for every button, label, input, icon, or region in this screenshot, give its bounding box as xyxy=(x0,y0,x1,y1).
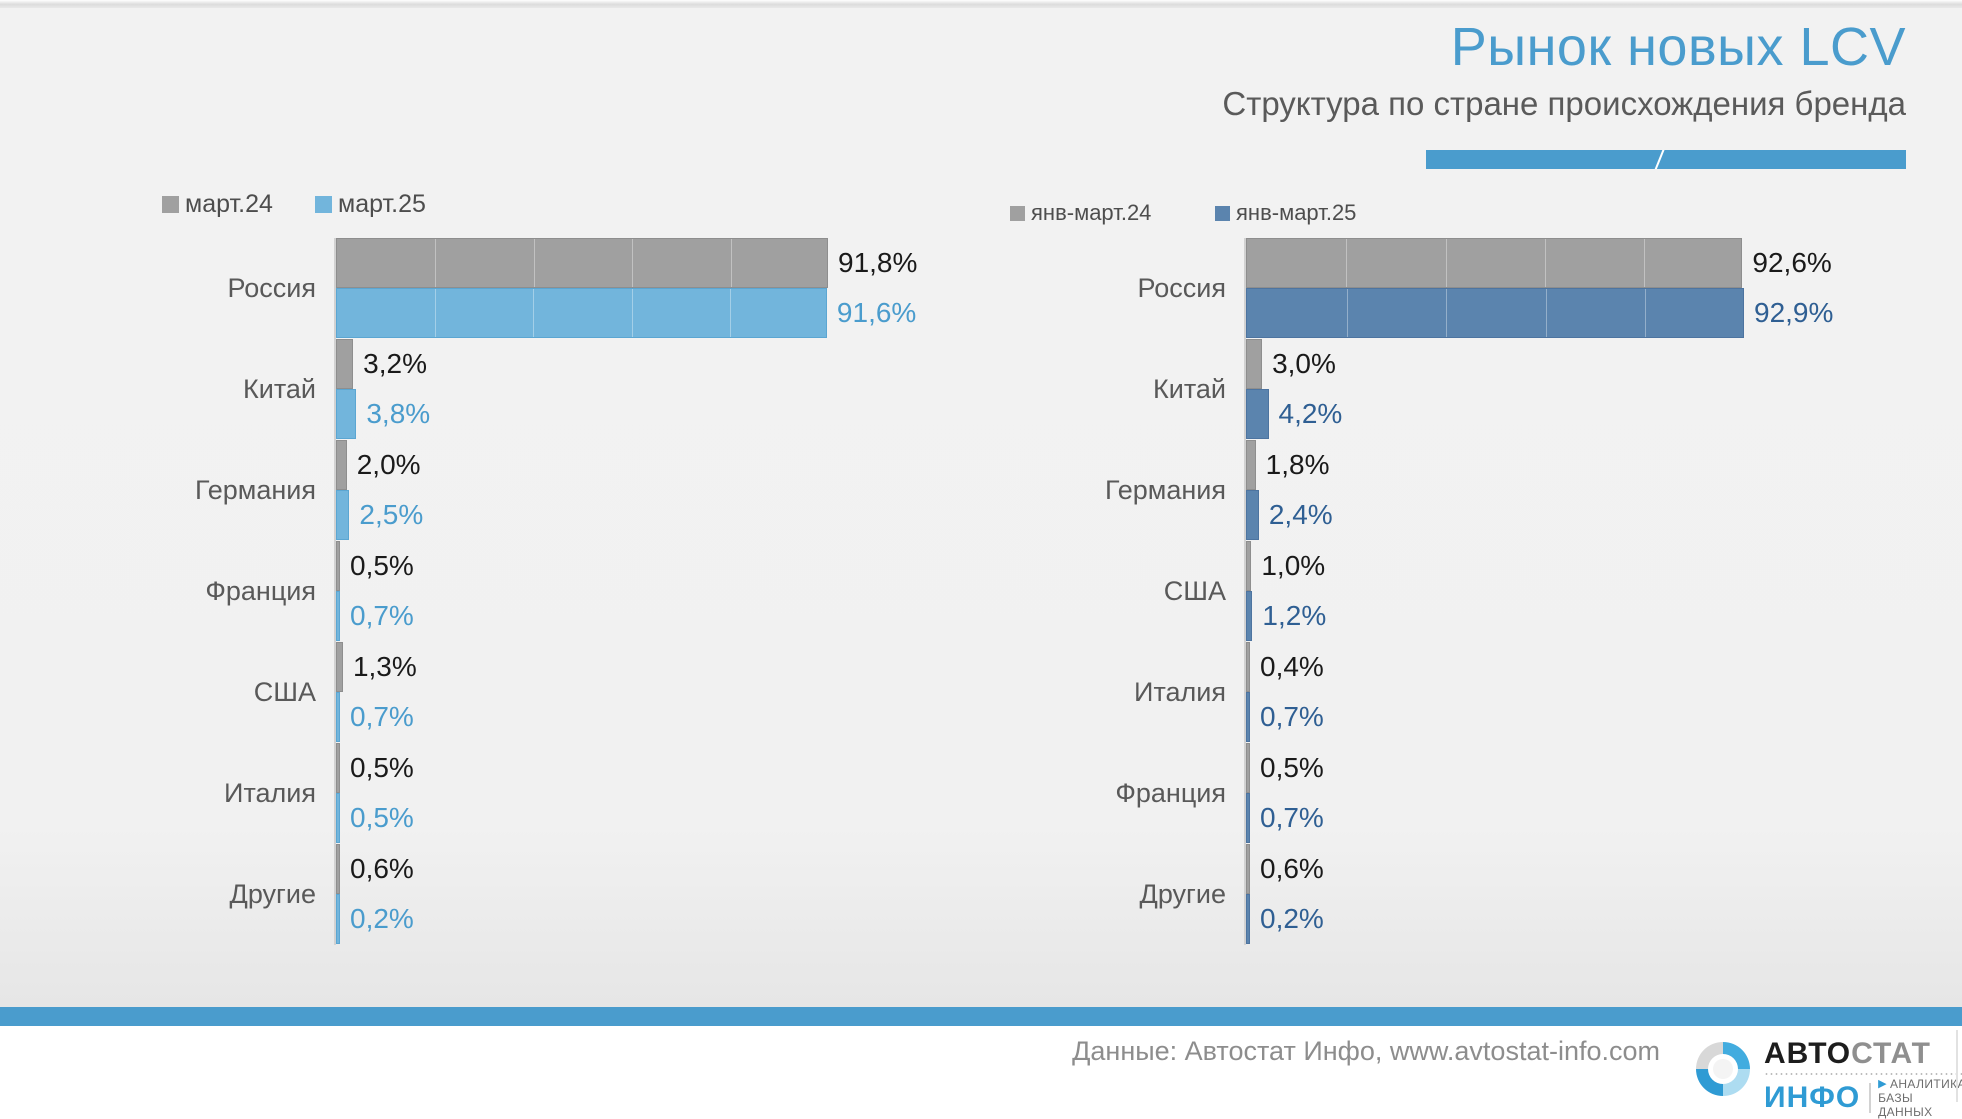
bar-value-label: 92,9% xyxy=(1754,299,1833,327)
logo-tagline-2: БАЗЫ ДАННЫХ xyxy=(1878,1091,1962,1119)
bar-series-2[interactable] xyxy=(1246,490,1259,540)
bar-with-label: 0,6% xyxy=(1246,844,1324,894)
header: Рынок новых LCV Структура по стране прои… xyxy=(806,8,1906,124)
bar-group: 0,6%0,2% xyxy=(1246,844,1840,945)
bar-with-label: 1,0% xyxy=(1246,541,1325,591)
bar-value-label: 2,0% xyxy=(357,451,421,479)
bar-group: 0,5%0,7% xyxy=(336,541,980,642)
bar-value-label: 2,5% xyxy=(359,501,423,529)
bar-with-label: 0,5% xyxy=(1246,743,1324,793)
bar-series-1[interactable] xyxy=(1246,238,1742,288)
bar-series-2[interactable] xyxy=(1246,591,1252,641)
legend-item-jan-march-25[interactable]: янв-март.25 xyxy=(1215,200,1356,226)
chart-row: Другие0,6%0,2% xyxy=(1010,844,1840,945)
legend-label: март.25 xyxy=(338,190,426,219)
bar-series-2[interactable] xyxy=(1246,288,1744,338)
bar-with-label: 1,2% xyxy=(1246,591,1326,641)
category-label: Другие xyxy=(1010,879,1226,910)
bar-value-label: 3,8% xyxy=(366,400,430,428)
bar-series-1[interactable] xyxy=(336,541,340,591)
bar-value-label: 1,2% xyxy=(1262,602,1326,630)
bar-with-label: 0,5% xyxy=(336,793,414,843)
bar-value-label: 0,7% xyxy=(350,602,414,630)
bar-value-label: 0,7% xyxy=(1260,703,1324,731)
bar-value-label: 91,8% xyxy=(838,249,917,277)
avtostat-info-logo[interactable]: АВТОСТАТ ИНФО ▶ АНАЛИТИКА БАЗЫ ДАННЫХ xyxy=(1690,1026,1946,1106)
bar-series-2[interactable] xyxy=(336,389,356,439)
category-label: Россия xyxy=(150,273,316,304)
bar-with-label: 2,4% xyxy=(1246,490,1333,540)
bar-value-label: 0,6% xyxy=(350,855,414,883)
bar-value-label: 0,5% xyxy=(350,552,414,580)
logo-word-info: ИНФО xyxy=(1764,1082,1860,1114)
category-label: Италия xyxy=(1010,677,1226,708)
chart-row: Италия0,5%0,5% xyxy=(150,743,980,844)
logo-tagline-1: АНАЛИТИКА xyxy=(1890,1077,1962,1091)
bar-series-2[interactable] xyxy=(1246,692,1250,742)
category-label: Китай xyxy=(1010,374,1226,405)
logo-divider xyxy=(1869,1083,1871,1113)
bar-with-label: 0,4% xyxy=(1246,642,1324,692)
category-label: Германия xyxy=(1010,475,1226,506)
chart-ytd: янв-март.24 янв-март.25 Россия92,6%92,9%… xyxy=(1010,190,1840,945)
bar-series-1[interactable] xyxy=(1246,844,1250,894)
chart-row: Франция0,5%0,7% xyxy=(150,541,980,642)
bar-value-label: 0,7% xyxy=(350,703,414,731)
chart-row: Другие0,6%0,2% xyxy=(150,844,980,945)
bar-series-2[interactable] xyxy=(1246,389,1269,439)
chart-row: Франция0,5%0,7% xyxy=(1010,743,1840,844)
chart-row: США1,0%1,2% xyxy=(1010,541,1840,642)
logo-dot-rule xyxy=(1764,1072,1962,1076)
accent-bar xyxy=(1426,150,1906,169)
logo-wordmark: АВТОСТАТ ИНФО ▶ АНАЛИТИКА БАЗЫ ДАННЫХ xyxy=(1764,1038,1962,1119)
bar-group: 91,8%91,6% xyxy=(336,238,980,339)
bar-value-label: 3,2% xyxy=(363,350,427,378)
bar-group: 0,5%0,5% xyxy=(336,743,980,844)
page-title: Рынок новых LCV xyxy=(806,16,1906,78)
bar-with-label: 0,5% xyxy=(336,743,414,793)
chart-ytd-legend: янв-март.24 янв-март.25 xyxy=(1010,190,1840,230)
legend-label: март.24 xyxy=(185,190,273,219)
bar-with-label: 1,3% xyxy=(336,642,417,692)
bar-value-label: 1,0% xyxy=(1261,552,1325,580)
bar-series-2[interactable] xyxy=(336,793,340,843)
bar-series-1[interactable] xyxy=(1246,541,1251,591)
top-strip xyxy=(0,0,1962,8)
chart-row: Китай3,2%3,8% xyxy=(150,339,980,440)
chart-row: Германия1,8%2,4% xyxy=(1010,440,1840,541)
bar-group: 0,5%0,7% xyxy=(1246,743,1840,844)
bar-with-label: 92,9% xyxy=(1246,288,1833,338)
bar-value-label: 0,6% xyxy=(1260,855,1324,883)
logo-swirl-icon xyxy=(1690,1036,1756,1102)
legend-item-march-24[interactable]: март.24 xyxy=(162,190,273,219)
category-label: Китай xyxy=(150,374,316,405)
legend-item-march-25[interactable]: март.25 xyxy=(315,190,426,219)
legend-swatch-grey xyxy=(1010,206,1025,221)
logo-line-info: ИНФО ▶ АНАЛИТИКА БАЗЫ ДАННЫХ xyxy=(1764,1077,1962,1119)
bar-series-2[interactable] xyxy=(336,591,340,641)
bar-with-label: 2,5% xyxy=(336,490,423,540)
bar-group: 1,0%1,2% xyxy=(1246,541,1840,642)
bar-series-1[interactable] xyxy=(336,743,340,793)
chart-row: Китай3,0%4,2% xyxy=(1010,339,1840,440)
bar-with-label: 0,7% xyxy=(1246,793,1324,843)
bar-series-1[interactable] xyxy=(1246,642,1250,692)
legend-swatch-grey xyxy=(162,196,179,213)
bar-with-label: 2,0% xyxy=(336,440,421,490)
footer xyxy=(0,1026,1962,1110)
bar-series-1[interactable] xyxy=(336,642,343,692)
category-label: Россия xyxy=(1010,273,1226,304)
bar-with-label: 0,5% xyxy=(336,541,414,591)
bar-value-label: 0,2% xyxy=(1260,905,1324,933)
accent-slash xyxy=(1652,150,1667,169)
chart-row: США1,3%0,7% xyxy=(150,642,980,743)
bar-value-label: 1,8% xyxy=(1266,451,1330,479)
page-subtitle: Структура по стране происхождения бренда xyxy=(806,84,1906,124)
bar-value-label: 3,0% xyxy=(1272,350,1336,378)
category-label: Германия xyxy=(150,475,316,506)
chart-row: Италия0,4%0,7% xyxy=(1010,642,1840,743)
category-label: Другие xyxy=(150,879,316,910)
category-label: Италия xyxy=(150,778,316,809)
bar-value-label: 0,2% xyxy=(350,905,414,933)
bar-value-label: 2,4% xyxy=(1269,501,1333,529)
bar-group: 3,2%3,8% xyxy=(336,339,980,440)
logo-line-avtostat: АВТОСТАТ xyxy=(1764,1038,1962,1070)
category-label: США xyxy=(1010,576,1226,607)
bar-group: 92,6%92,9% xyxy=(1246,238,1840,339)
logo-word-stat: СТАТ xyxy=(1851,1037,1931,1070)
slide: Рынок новых LCV Структура по стране прои… xyxy=(0,0,1962,1110)
bar-group: 1,8%2,4% xyxy=(1246,440,1840,541)
bar-with-label: 1,8% xyxy=(1246,440,1329,490)
bar-value-label: 0,5% xyxy=(350,754,414,782)
bar-value-label: 0,4% xyxy=(1260,653,1324,681)
bar-with-label: 4,2% xyxy=(1246,389,1342,439)
bar-value-label: 92,6% xyxy=(1752,249,1831,277)
bar-value-label: 0,5% xyxy=(350,804,414,832)
chart-row: Россия92,6%92,9% xyxy=(1010,238,1840,339)
bar-series-2[interactable] xyxy=(336,894,340,944)
bar-with-label: 91,8% xyxy=(336,238,917,288)
bar-series-1[interactable] xyxy=(336,440,347,490)
chart-row: Россия91,8%91,6% xyxy=(150,238,980,339)
bar-with-label: 0,7% xyxy=(336,692,414,742)
bar-series-1[interactable] xyxy=(336,238,828,288)
legend-label: янв-март.24 xyxy=(1031,200,1151,226)
logo-tagline: ▶ АНАЛИТИКА БАЗЫ ДАННЫХ xyxy=(1878,1077,1962,1119)
legend-item-jan-march-24[interactable]: янв-март.24 xyxy=(1010,200,1151,226)
bar-with-label: 91,6% xyxy=(336,288,916,338)
chart-monthly-legend: март.24 март.25 xyxy=(150,190,980,230)
bar-with-label: 0,7% xyxy=(336,591,414,641)
bar-with-label: 0,2% xyxy=(1246,894,1324,944)
bar-value-label: 0,7% xyxy=(1260,804,1324,832)
bar-with-label: 3,8% xyxy=(336,389,430,439)
bar-group: 0,4%0,7% xyxy=(1246,642,1840,743)
bar-group: 0,6%0,2% xyxy=(336,844,980,945)
bar-series-1[interactable] xyxy=(336,339,353,389)
bar-series-2[interactable] xyxy=(1246,894,1250,944)
logo-word-avto: АВТО xyxy=(1764,1037,1851,1070)
chart-monthly: март.24 март.25 Россия91,8%91,6%Китай3,2… xyxy=(150,190,980,945)
bar-group: 1,3%0,7% xyxy=(336,642,980,743)
bar-series-1[interactable] xyxy=(336,844,340,894)
legend-swatch-blue xyxy=(1215,206,1230,221)
bar-with-label: 0,2% xyxy=(336,894,414,944)
bar-value-label: 1,3% xyxy=(353,653,417,681)
bar-value-label: 4,2% xyxy=(1279,400,1343,428)
data-source-text: Данные: Автостат Инфо, www.avtostat-info… xyxy=(1010,1036,1660,1067)
legend-label: янв-март.25 xyxy=(1236,200,1356,226)
category-label: США xyxy=(150,677,316,708)
bar-series-2[interactable] xyxy=(336,692,340,742)
bar-series-1[interactable] xyxy=(1246,743,1250,793)
bar-series-1[interactable] xyxy=(1246,440,1256,490)
bar-series-2[interactable] xyxy=(336,288,827,338)
bar-group: 2,0%2,5% xyxy=(336,440,980,541)
bar-with-label: 0,7% xyxy=(1246,692,1324,742)
bar-with-label: 3,2% xyxy=(336,339,427,389)
category-label: Франция xyxy=(150,576,316,607)
legend-swatch-blue xyxy=(315,196,332,213)
chart-row: Германия2,0%2,5% xyxy=(150,440,980,541)
bar-value-label: 91,6% xyxy=(837,299,916,327)
bar-series-2[interactable] xyxy=(1246,793,1250,843)
bar-with-label: 92,6% xyxy=(1246,238,1832,288)
bar-group: 3,0%4,2% xyxy=(1246,339,1840,440)
bar-series-2[interactable] xyxy=(336,490,349,540)
footer-rule xyxy=(0,1007,1962,1026)
logo-edge-rule xyxy=(1956,1030,1958,1102)
chart-monthly-plot: Россия91,8%91,6%Китай3,2%3,8%Германия2,0… xyxy=(150,238,980,945)
chart-ytd-plot: Россия92,6%92,9%Китай3,0%4,2%Германия1,8… xyxy=(1010,238,1840,945)
bar-value-label: 0,5% xyxy=(1260,754,1324,782)
category-label: Франция xyxy=(1010,778,1226,809)
bar-series-1[interactable] xyxy=(1246,339,1262,389)
play-triangle-icon: ▶ xyxy=(1878,1077,1887,1091)
bar-with-label: 3,0% xyxy=(1246,339,1336,389)
bar-with-label: 0,6% xyxy=(336,844,414,894)
